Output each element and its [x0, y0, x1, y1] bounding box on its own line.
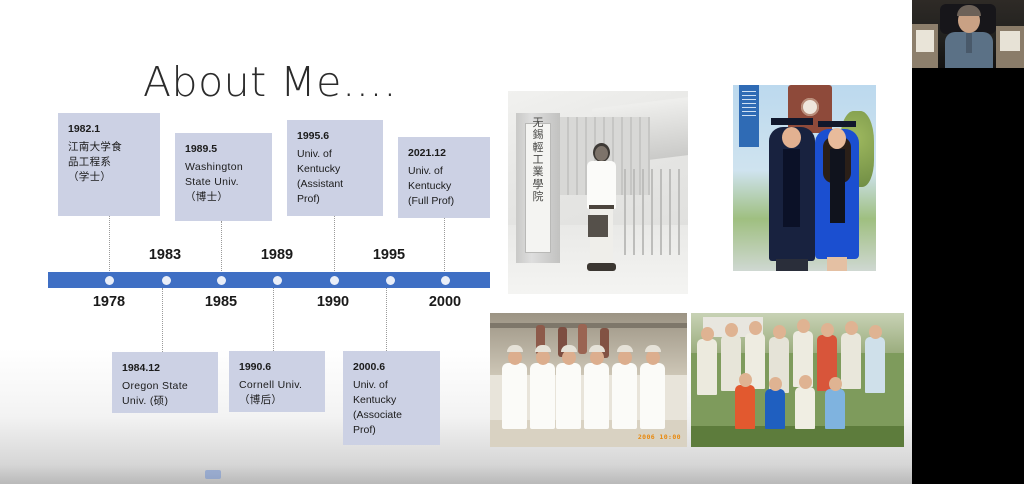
card-line: Univ. of [353, 378, 431, 393]
card-line: (Full Prof) [408, 194, 481, 209]
timeline-year-1990: 1990 [305, 294, 361, 310]
card-line: Univ. (硕) [122, 394, 209, 409]
photo-sign-text: 无錫輕工業學院 [520, 117, 556, 203]
timeline-year-1983: 1983 [137, 247, 193, 263]
timeline-dot [386, 276, 395, 285]
card-line: Univ. of [297, 147, 374, 162]
leader-line-1995 [334, 216, 335, 273]
page-title: About Me…. [143, 58, 397, 106]
photo-graduate-left [769, 127, 815, 261]
webcam-lanyard [966, 33, 972, 53]
screen: About Me…. 1982.1 江南大学食 品工程系 （学士） 1989.5… [0, 0, 1024, 484]
card-line: State Univ. [185, 175, 263, 190]
presenter-webcam[interactable] [912, 0, 1024, 68]
timeline-card-1982: 1982.1 江南大学食 品工程系 （学士） [58, 113, 160, 216]
card-date: 1990.6 [239, 360, 316, 375]
leader-line-1984 [162, 288, 163, 352]
photo-graduate-right [815, 129, 859, 259]
photo-timestamp: 2006 10:00 [638, 433, 681, 441]
slide-footer-mark [205, 470, 221, 479]
old-school-gate-photo: 无錫輕工業學院 [508, 91, 688, 294]
lab-group-photo: 2006 10:00 [490, 313, 687, 447]
timeline-dot [330, 276, 339, 285]
webcam-bookshelf-left [912, 24, 938, 68]
timeline-dot [217, 276, 226, 285]
webcam-bookshelf-right [996, 26, 1024, 68]
timeline-year-1978: 1978 [81, 294, 137, 310]
timeline-year-2000: 2000 [417, 294, 473, 310]
timeline-dot [441, 276, 450, 285]
card-line: Kentucky [353, 393, 431, 408]
timeline-bar [48, 272, 490, 288]
outdoor-group-photo [691, 313, 904, 447]
presentation-slide: About Me…. 1982.1 江南大学食 品工程系 （学士） 1989.5… [0, 0, 912, 484]
card-date: 2000.6 [353, 360, 431, 375]
card-line: （学士） [68, 170, 151, 185]
card-date: 1995.6 [297, 129, 374, 144]
graduation-photo [733, 85, 876, 271]
photo-person [584, 143, 618, 277]
timeline-card-1989: 1989.5 Washington State Univ. （博士） [175, 133, 272, 221]
leader-line-1982 [109, 216, 110, 273]
card-line: （博后） [239, 393, 316, 408]
card-date: 2021.12 [408, 146, 481, 161]
leader-line-2021 [444, 218, 445, 273]
card-line: Prof) [353, 423, 431, 438]
timeline-card-1995: 1995.6 Univ. of Kentucky (Assistant Prof… [287, 120, 383, 216]
card-line: Univ. of [408, 164, 481, 179]
card-line: Washington [185, 160, 263, 175]
card-line: Cornell Univ. [239, 378, 316, 393]
card-line: (Associate [353, 408, 431, 423]
leader-line-1990 [273, 288, 274, 351]
leader-line-2000 [386, 288, 387, 351]
card-date: 1982.1 [68, 122, 151, 137]
timeline-year-1985: 1985 [193, 294, 249, 310]
photo-banner [739, 85, 759, 147]
card-line: Kentucky [297, 162, 374, 177]
timeline-card-1984: 1984.12 Oregon State Univ. (硕) [112, 352, 218, 413]
timeline-dot [273, 276, 282, 285]
card-line: （博士） [185, 190, 263, 205]
photo-pipe [490, 323, 687, 328]
timeline-card-2000: 2000.6 Univ. of Kentucky (Associate Prof… [343, 351, 440, 445]
card-date: 1989.5 [185, 142, 263, 157]
card-line: Oregon State [122, 379, 209, 394]
card-line: Prof) [297, 192, 374, 207]
timeline-year-1989: 1989 [249, 247, 305, 263]
card-date: 1984.12 [122, 361, 209, 376]
photo-gate [624, 169, 684, 255]
leader-line-1989 [221, 221, 222, 273]
card-line: 江南大学食 [68, 140, 151, 155]
timeline-year-1995: 1995 [361, 247, 417, 263]
timeline-card-1990: 1990.6 Cornell Univ. （博后） [229, 351, 325, 412]
card-line: (Assistant [297, 177, 374, 192]
card-line: Kentucky [408, 179, 481, 194]
timeline-dot [105, 276, 114, 285]
timeline-card-2021: 2021.12 Univ. of Kentucky (Full Prof) [398, 137, 490, 218]
card-line: 品工程系 [68, 155, 151, 170]
meeting-side-panel [912, 0, 1024, 484]
timeline-dot [162, 276, 171, 285]
